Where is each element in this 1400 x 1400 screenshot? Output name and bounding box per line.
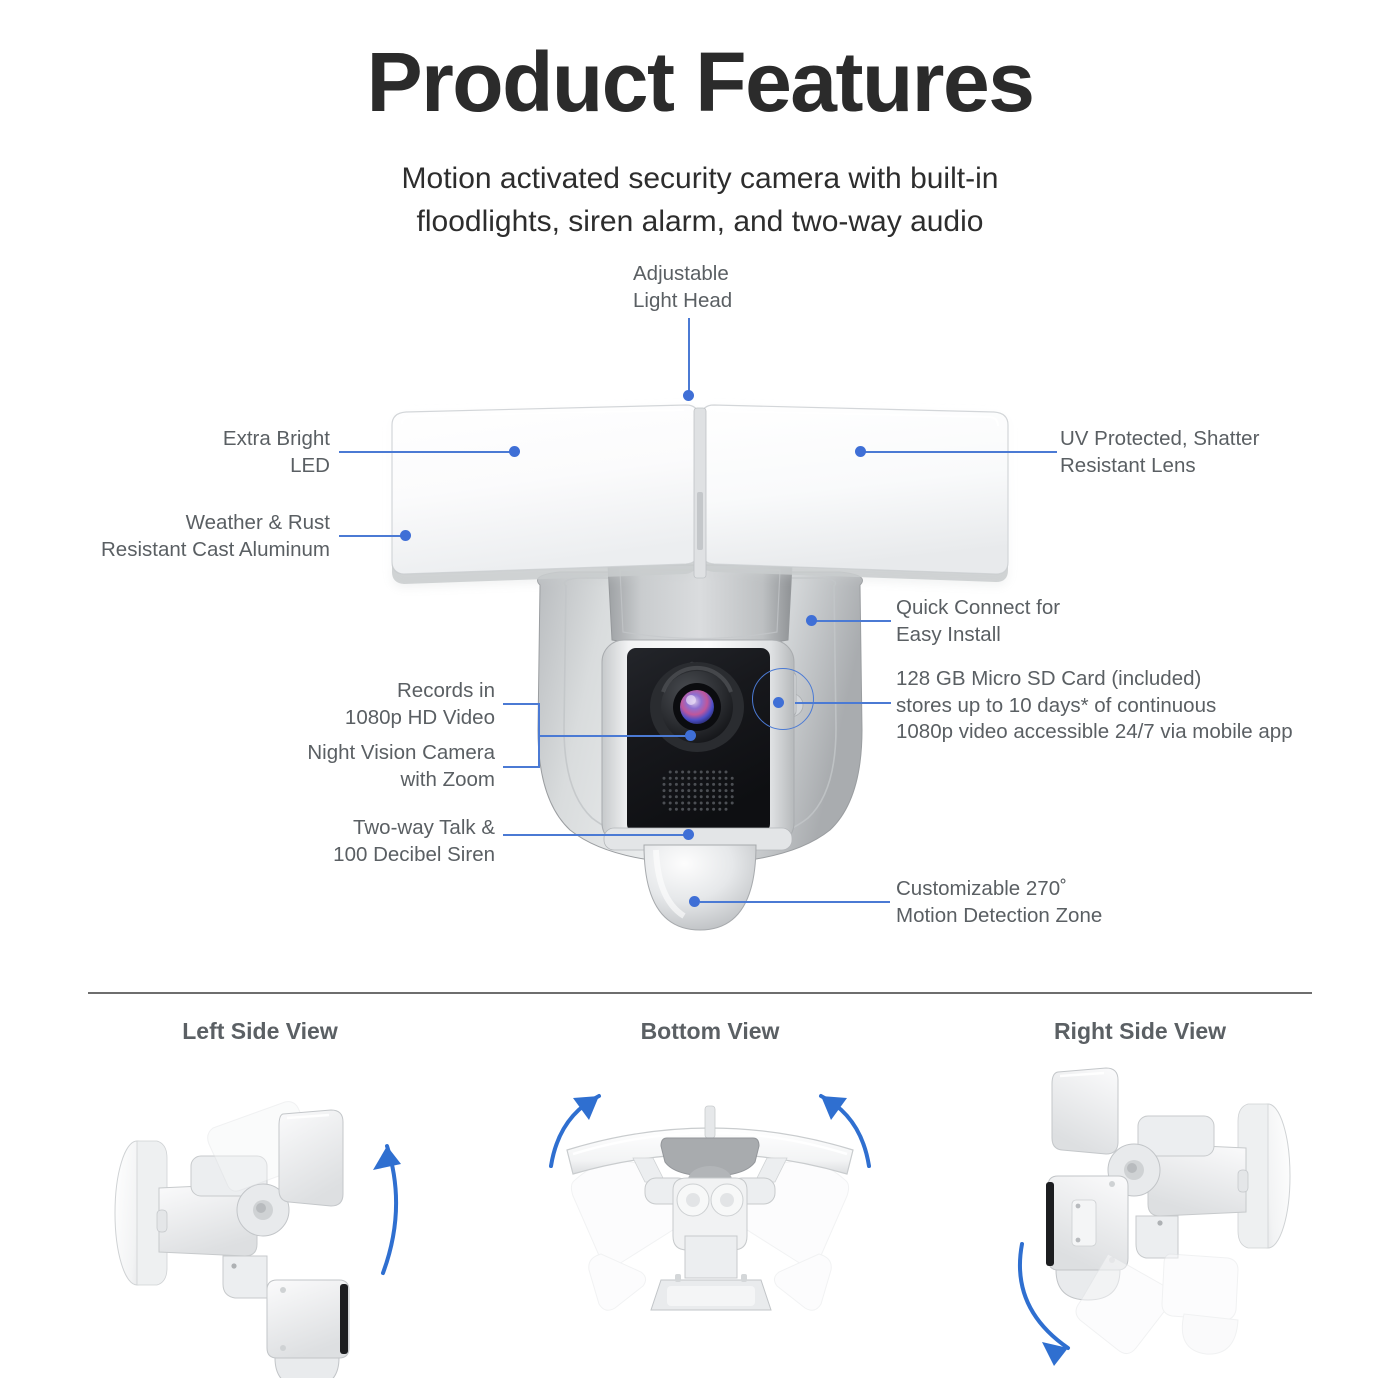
figure-bottom-view [545,1058,875,1318]
callout-micro-sd-card: 128 GB Micro SD Card (included) stores u… [896,666,1366,746]
leader-dot-extra-bright-led [509,446,520,457]
motion-sensor-dome [644,845,756,930]
leader-adjustable-light-head [688,318,690,394]
leader-camera-stem [538,735,690,737]
leader-micro-sd-card [795,702,891,704]
leader-dot-adjustable-light-head [683,390,694,401]
leader-dot-motion-detection-zone [689,896,700,907]
leader-dot-quick-connect [806,615,817,626]
figure-left-side-view [95,1058,425,1378]
leader-dot-two-way-talk-siren [683,829,694,840]
callout-uv-protected-lens: UV Protected, Shatter Resistant Lens [1060,426,1380,479]
product-hero-illustration [0,0,1400,980]
figure-right-side-view [1000,1058,1330,1378]
leader-records-1080p [503,703,540,705]
view-title-bottom: Bottom View [530,1018,890,1045]
callout-adjustable-light-head: Adjustable Light Head [633,261,853,314]
product-features-infographic: Product Features Motion activated securi… [0,0,1400,1400]
flood-panel-right [702,405,1008,582]
callout-extra-bright-led: Extra Bright LED [60,426,330,479]
leader-dot-uv-protected-lens [855,446,866,457]
leader-dot-weather-rust-resistant [400,530,411,541]
panel-hinge [694,408,706,578]
leader-dot-micro-sd-card [773,697,784,708]
callout-weather-rust-resistant: Weather & Rust Resistant Cast Aluminum [20,510,330,563]
section-divider [88,992,1312,994]
leader-two-way-talk-siren [503,834,688,836]
callout-records-1080p: Records in 1080p HD Video [230,678,495,731]
leader-dot-camera-lens [685,730,696,741]
callout-quick-connect: Quick Connect for Easy Install [896,595,1186,648]
view-title-right-side: Right Side View [960,1018,1320,1045]
callout-night-vision-zoom: Night Vision Camera with Zoom [200,740,495,793]
leader-extra-bright-led [339,451,514,453]
leader-weather-rust-resistant [339,535,405,537]
camera-module [602,640,794,850]
leader-uv-protected-lens [862,451,1057,453]
flood-panel-left [392,405,698,584]
leader-quick-connect [813,620,891,622]
view-title-left-side: Left Side View [80,1018,440,1045]
callout-motion-detection-zone: Customizable 270˚ Motion Detection Zone [896,876,1236,929]
leader-motion-detection-zone [700,901,890,903]
leader-night-vision-zoom [503,766,540,768]
callout-two-way-talk-siren: Two-way Talk & 100 Decibel Siren [215,815,495,868]
